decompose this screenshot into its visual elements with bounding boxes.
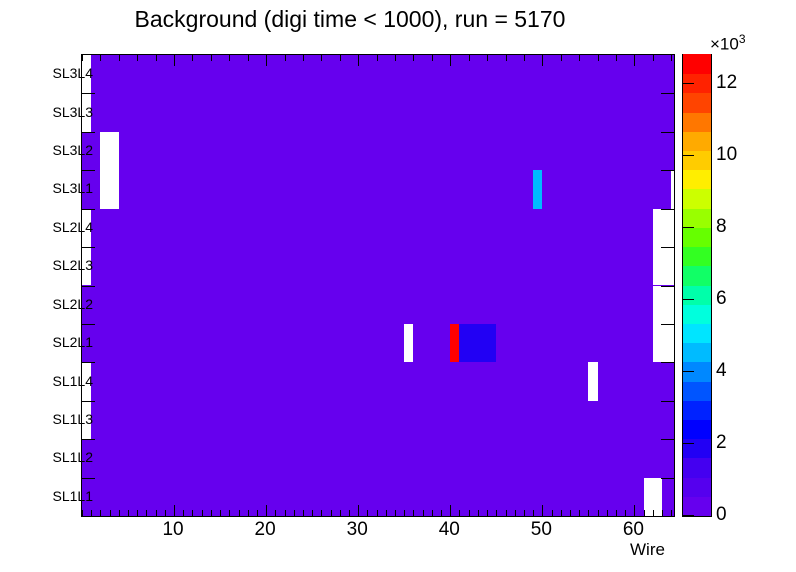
x-tick-minor bbox=[404, 510, 405, 516]
y-tick-major-right bbox=[661, 209, 674, 210]
x-tick-minor bbox=[128, 510, 129, 516]
y-tick-major bbox=[82, 132, 95, 133]
y-tick-major-right bbox=[661, 170, 674, 171]
x-tick-top bbox=[174, 55, 175, 66]
x-tick-minor bbox=[257, 510, 258, 516]
palette-band bbox=[683, 477, 711, 497]
x-tick-minor bbox=[331, 510, 332, 516]
x-tick-minor bbox=[110, 510, 111, 516]
x-tick-minor bbox=[413, 510, 414, 516]
x-tick-label: 60 bbox=[623, 519, 644, 541]
palette-band bbox=[683, 54, 711, 74]
palette-band bbox=[683, 285, 711, 305]
x-tick-minor bbox=[248, 510, 249, 516]
y-tick-major-right bbox=[661, 324, 674, 325]
x-tick-top bbox=[413, 55, 414, 61]
x-tick-top bbox=[432, 55, 433, 61]
palette-tick bbox=[682, 83, 694, 84]
x-tick-top bbox=[192, 55, 193, 61]
x-tick-top bbox=[377, 55, 378, 61]
heatmap-hot-cell bbox=[450, 324, 459, 362]
x-tick-minor bbox=[192, 510, 193, 516]
x-tick-minor bbox=[183, 510, 184, 516]
x-tick-minor bbox=[607, 510, 608, 516]
x-tick-minor bbox=[432, 510, 433, 516]
y-tick-label-sl2l4: SL2L4 bbox=[53, 219, 93, 235]
x-tick-top bbox=[340, 55, 341, 61]
x-tick-top bbox=[321, 55, 322, 61]
x-tick-minor bbox=[229, 510, 230, 516]
y-tick-major bbox=[82, 324, 95, 325]
x-tick-minor bbox=[395, 510, 396, 516]
x-tick-minor bbox=[82, 510, 83, 516]
x-tick-minor bbox=[165, 510, 166, 516]
palette-band bbox=[683, 496, 711, 516]
palette-tick-label: 0 bbox=[716, 504, 727, 526]
x-tick-minor bbox=[137, 510, 138, 516]
x-tick-top bbox=[616, 55, 617, 61]
x-tick-minor bbox=[570, 510, 571, 516]
y-tick-major-right bbox=[661, 247, 674, 248]
x-tick-minor bbox=[515, 510, 516, 516]
x-tick-minor bbox=[616, 510, 617, 516]
palette-band bbox=[683, 458, 711, 478]
palette-band bbox=[683, 304, 711, 324]
y-tick-major-right bbox=[661, 362, 674, 363]
x-tick-top bbox=[634, 55, 635, 66]
x-tick-top bbox=[358, 55, 359, 66]
heatmap-cells bbox=[82, 55, 674, 516]
x-tick-minor bbox=[100, 510, 101, 516]
palette-band bbox=[683, 131, 711, 151]
y-tick-major-right bbox=[661, 439, 674, 440]
x-tick-top bbox=[469, 55, 470, 61]
y-tick-label-sl1l4: SL1L4 bbox=[53, 373, 93, 389]
heatmap-hot-cell bbox=[533, 170, 542, 208]
x-tick-minor bbox=[625, 510, 626, 516]
chart-title: Background (digi time < 1000), run = 517… bbox=[0, 6, 700, 33]
x-tick-label: 30 bbox=[347, 519, 368, 541]
x-tick-top bbox=[653, 55, 654, 61]
x-tick-minor bbox=[340, 510, 341, 516]
palette-band bbox=[683, 150, 711, 170]
x-tick-top bbox=[579, 55, 580, 61]
heatmap-empty-cell bbox=[588, 362, 597, 400]
x-tick-minor bbox=[533, 510, 534, 516]
palette-band bbox=[683, 381, 711, 401]
palette-band bbox=[683, 189, 711, 209]
y-tick-label-sl1l3: SL1L3 bbox=[53, 411, 93, 427]
y-tick-major-right bbox=[661, 478, 674, 479]
heatmap-empty-cell bbox=[671, 170, 674, 208]
palette-tick bbox=[682, 371, 694, 372]
x-tick-minor bbox=[285, 510, 286, 516]
palette-tick bbox=[682, 515, 694, 516]
palette-band bbox=[683, 93, 711, 113]
palette-tick-label: 4 bbox=[716, 360, 727, 382]
x-tick-top bbox=[395, 55, 396, 61]
heatmap-empty-cell bbox=[653, 209, 674, 247]
palette-band bbox=[683, 439, 711, 459]
heatmap-background-fill bbox=[82, 55, 674, 516]
plot-frame bbox=[81, 54, 675, 517]
x-tick-top bbox=[285, 55, 286, 61]
heatmap-empty-cell bbox=[653, 286, 674, 324]
palette-tick-label: 8 bbox=[716, 216, 727, 238]
x-tick-minor bbox=[275, 510, 276, 516]
y-tick-major bbox=[82, 170, 95, 171]
x-tick-major bbox=[634, 505, 635, 516]
x-tick-minor bbox=[91, 510, 92, 516]
x-tick-top bbox=[524, 55, 525, 61]
palette-tick bbox=[682, 155, 694, 156]
x-tick-minor bbox=[202, 510, 203, 516]
y-tick-label-sl1l1: SL1L1 bbox=[53, 488, 93, 504]
palette-exponent-mantissa: ×10 bbox=[710, 35, 739, 54]
x-tick-minor bbox=[579, 510, 580, 516]
y-tick-major-right bbox=[661, 132, 674, 133]
x-tick-top bbox=[211, 55, 212, 61]
x-tick-minor bbox=[146, 510, 147, 516]
x-tick-minor bbox=[588, 510, 589, 516]
heatmap-empty-cell bbox=[100, 170, 118, 208]
x-tick-minor bbox=[561, 510, 562, 516]
x-tick-minor bbox=[386, 510, 387, 516]
palette-exponent-label: ×103 bbox=[710, 32, 746, 55]
x-tick-minor bbox=[321, 510, 322, 516]
palette-tick bbox=[682, 443, 694, 444]
x-tick-top bbox=[487, 55, 488, 61]
y-tick-major-right bbox=[661, 93, 674, 94]
x-tick-top bbox=[229, 55, 230, 61]
y-tick-label-sl3l1: SL3L1 bbox=[53, 180, 93, 196]
palette-band bbox=[683, 170, 711, 190]
x-axis-title: Wire bbox=[630, 540, 665, 560]
x-tick-minor bbox=[377, 510, 378, 516]
palette-tick-label: 12 bbox=[716, 72, 737, 94]
heatmap-empty-cell bbox=[100, 132, 118, 170]
palette-band bbox=[683, 323, 711, 343]
palette-tick-label: 10 bbox=[716, 144, 737, 166]
x-tick-label: 50 bbox=[531, 519, 552, 541]
x-tick-minor bbox=[220, 510, 221, 516]
y-tick-label-sl3l4: SL3L4 bbox=[53, 65, 93, 81]
palette-tick-label: 2 bbox=[716, 432, 727, 454]
root-canvas: Background (digi time < 1000), run = 517… bbox=[0, 0, 796, 572]
x-tick-top bbox=[598, 55, 599, 61]
x-tick-top bbox=[82, 55, 83, 61]
x-tick-major bbox=[358, 505, 359, 516]
x-tick-top bbox=[561, 55, 562, 61]
palette-band bbox=[683, 419, 711, 439]
y-tick-label-sl3l2: SL3L2 bbox=[53, 142, 93, 158]
y-tick-major bbox=[82, 439, 95, 440]
y-tick-label-sl2l1: SL2L1 bbox=[53, 334, 93, 350]
palette-band bbox=[683, 266, 711, 286]
x-tick-top bbox=[137, 55, 138, 61]
y-tick-major bbox=[82, 209, 95, 210]
x-tick-minor bbox=[303, 510, 304, 516]
x-tick-minor bbox=[662, 510, 663, 516]
x-tick-minor bbox=[552, 510, 553, 516]
x-tick-minor bbox=[211, 510, 212, 516]
x-tick-minor bbox=[119, 510, 120, 516]
y-tick-major bbox=[82, 286, 95, 287]
x-tick-minor bbox=[598, 510, 599, 516]
x-tick-top bbox=[266, 55, 267, 66]
x-tick-minor bbox=[496, 510, 497, 516]
x-tick-minor bbox=[478, 510, 479, 516]
y-tick-label-sl3l3: SL3L3 bbox=[53, 104, 93, 120]
x-tick-top bbox=[156, 55, 157, 61]
y-tick-major bbox=[82, 401, 95, 402]
x-tick-label: 40 bbox=[439, 519, 460, 541]
color-palette-bar bbox=[682, 54, 712, 517]
y-tick-major bbox=[82, 478, 95, 479]
x-tick-top bbox=[100, 55, 101, 61]
x-tick-minor bbox=[239, 510, 240, 516]
y-tick-major bbox=[82, 93, 95, 94]
x-tick-top bbox=[450, 55, 451, 66]
x-tick-top bbox=[248, 55, 249, 61]
palette-exponent-power: 3 bbox=[739, 32, 746, 46]
x-tick-major bbox=[450, 505, 451, 516]
x-tick-minor bbox=[524, 510, 525, 516]
x-tick-minor bbox=[469, 510, 470, 516]
x-tick-minor bbox=[506, 510, 507, 516]
y-tick-label-sl2l2: SL2L2 bbox=[53, 296, 93, 312]
x-tick-minor bbox=[441, 510, 442, 516]
palette-tick bbox=[682, 299, 694, 300]
x-tick-top bbox=[506, 55, 507, 61]
y-tick-major bbox=[82, 247, 95, 248]
x-tick-minor bbox=[349, 510, 350, 516]
palette-band bbox=[683, 112, 711, 132]
x-tick-minor bbox=[156, 510, 157, 516]
x-tick-minor bbox=[423, 510, 424, 516]
palette-band bbox=[683, 208, 711, 228]
x-tick-major bbox=[266, 505, 267, 516]
heatmap-empty-cell bbox=[653, 324, 674, 362]
heatmap-hot-cell bbox=[459, 324, 496, 362]
x-tick-label: 20 bbox=[255, 519, 276, 541]
palette-band bbox=[683, 343, 711, 363]
x-tick-minor bbox=[653, 510, 654, 516]
x-tick-major bbox=[542, 505, 543, 516]
x-tick-minor bbox=[294, 510, 295, 516]
x-tick-top bbox=[303, 55, 304, 61]
x-tick-top bbox=[119, 55, 120, 61]
palette-band bbox=[683, 400, 711, 420]
x-tick-top bbox=[671, 55, 672, 61]
palette-tick-label: 6 bbox=[716, 288, 727, 310]
palette-band bbox=[683, 227, 711, 247]
x-tick-top bbox=[542, 55, 543, 66]
x-tick-minor bbox=[367, 510, 368, 516]
x-tick-minor bbox=[312, 510, 313, 516]
x-tick-minor bbox=[487, 510, 488, 516]
palette-band bbox=[683, 247, 711, 267]
palette-tick bbox=[682, 227, 694, 228]
x-tick-minor bbox=[644, 510, 645, 516]
y-tick-label-sl1l2: SL1L2 bbox=[53, 449, 93, 465]
x-tick-minor bbox=[459, 510, 460, 516]
x-tick-minor bbox=[671, 510, 672, 516]
y-tick-label-sl2l3: SL2L3 bbox=[53, 257, 93, 273]
x-tick-major bbox=[174, 505, 175, 516]
x-tick-label: 10 bbox=[162, 519, 183, 541]
y-tick-major bbox=[82, 362, 95, 363]
heatmap-empty-cell bbox=[404, 324, 413, 362]
y-tick-major-right bbox=[661, 401, 674, 402]
heatmap-empty-cell bbox=[653, 247, 674, 285]
y-tick-major-right bbox=[661, 286, 674, 287]
